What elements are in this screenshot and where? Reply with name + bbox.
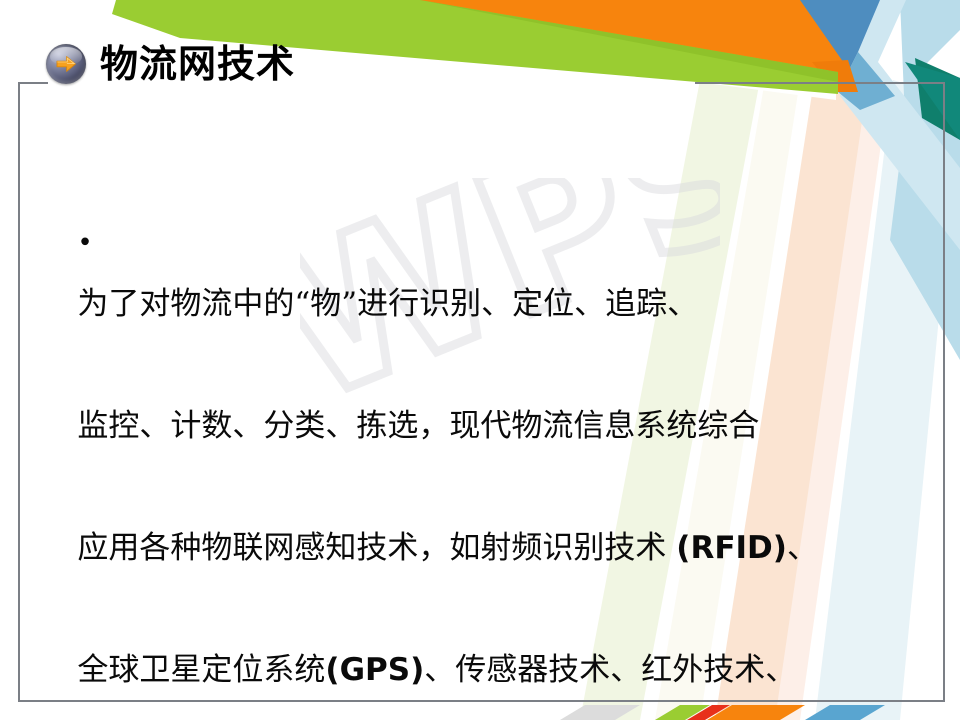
- frame-left-border: [18, 82, 20, 702]
- frame-top-right-border: [695, 82, 945, 84]
- bullet-marker: •: [77, 228, 92, 258]
- body-paragraph: • 为了对物流中的“物”进行识别、定位、追踪、 监控、计数、分类、拣选，现代物流…: [38, 150, 918, 720]
- arrow-right-circle-icon: [46, 44, 86, 84]
- green-ribbon-shade: [420, 0, 838, 82]
- body-line-4: 全球卫星定位系统(GPS)、传感器技术、红外技术、: [77, 652, 796, 688]
- steel-blue-ribbon: [800, 0, 880, 92]
- orange-ribbon: [330, 0, 858, 92]
- body-line-2: 监控、计数、分类、拣选，现代物流信息系统综合: [77, 408, 759, 444]
- body-line-3: 应用各种物联网感知技术，如射频识别技术 (RFID)、: [77, 530, 818, 566]
- frame-right-border: [943, 82, 945, 702]
- page-title: 物流网技术: [100, 45, 295, 83]
- body-line-1: 为了对物流中的“物”进行识别、定位、追踪、: [77, 286, 698, 322]
- slide-canvas: WPS 物流网技术 • 为了对物流中的“物”进行识别、定位、追踪、 监控、计数、…: [0, 0, 960, 720]
- frame-top-left-border: [18, 82, 48, 84]
- slide-title-row: 物流网技术: [46, 44, 295, 84]
